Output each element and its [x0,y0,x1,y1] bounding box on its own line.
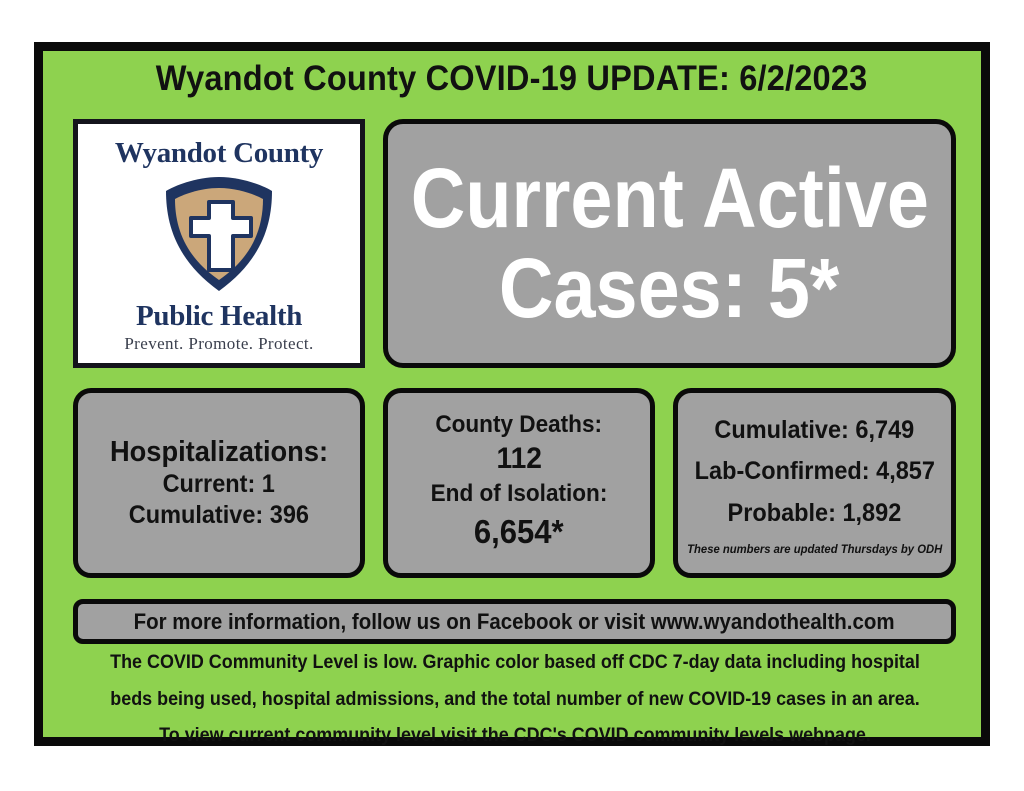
health-department-logo-card: Wyandot County Public Health Prevent. Pr… [73,119,365,368]
active-cases-label: Current Active [410,156,928,242]
county-deaths-heading: County Deaths: [436,411,603,440]
end-of-isolation-value: 6,654* [474,512,564,552]
current-active-cases-card: Current Active Cases: 5* [383,119,956,368]
hospitalizations-current: Current: 1 [163,469,275,500]
end-of-isolation-heading: End of Isolation: [431,480,608,509]
poster-title-bar: Wyandot County COVID-19 UPDATE: 6/2/2023 [43,59,981,99]
active-cases-value: Cases: 5* [499,246,839,332]
county-deaths-value: 112 [496,441,542,477]
community-level-footer: The COVID Community Level is low. Graphi… [65,653,965,763]
lab-confirmed-total: Lab-Confirmed: 4,857 [694,458,934,486]
hospitalizations-card: Hospitalizations: Current: 1 Cumulative:… [73,388,365,578]
logo-line-county: Wyandot County [115,138,323,168]
page-title: Wyandot County COVID-19 UPDATE: 6/2/2023 [156,59,868,99]
probable-total: Probable: 1,892 [728,500,902,528]
footer-line-3: To view current community level visit th… [101,726,929,746]
cumulative-cases-card: Cumulative: 6,749 Lab-Confirmed: 4,857 P… [673,388,956,578]
cumulative-total: Cumulative: 6,749 [715,417,915,445]
logo-tagline: Prevent. Promote. Protect. [124,334,313,354]
more-information-bar[interactable]: For more information, follow us on Faceb… [73,599,956,644]
hospitalizations-cumulative: Cumulative: 396 [129,500,309,531]
hospitalizations-heading: Hospitalizations: [110,435,328,469]
covid-update-poster: Wyandot County COVID-19 UPDATE: 6/2/2023… [34,42,990,746]
footer-line-1: The COVID Community Level is low. Graphi… [101,653,929,673]
logo-line-public-health: Public Health [136,301,302,331]
more-information-text: For more information, follow us on Faceb… [134,609,895,635]
update-schedule-note: These numbers are updated Thursdays by O… [687,542,942,556]
county-deaths-card: County Deaths: 112 End of Isolation: 6,6… [383,388,655,578]
shield-with-cross-icon [160,174,278,299]
footer-line-2: beds being used, hospital admissions, an… [101,690,929,710]
